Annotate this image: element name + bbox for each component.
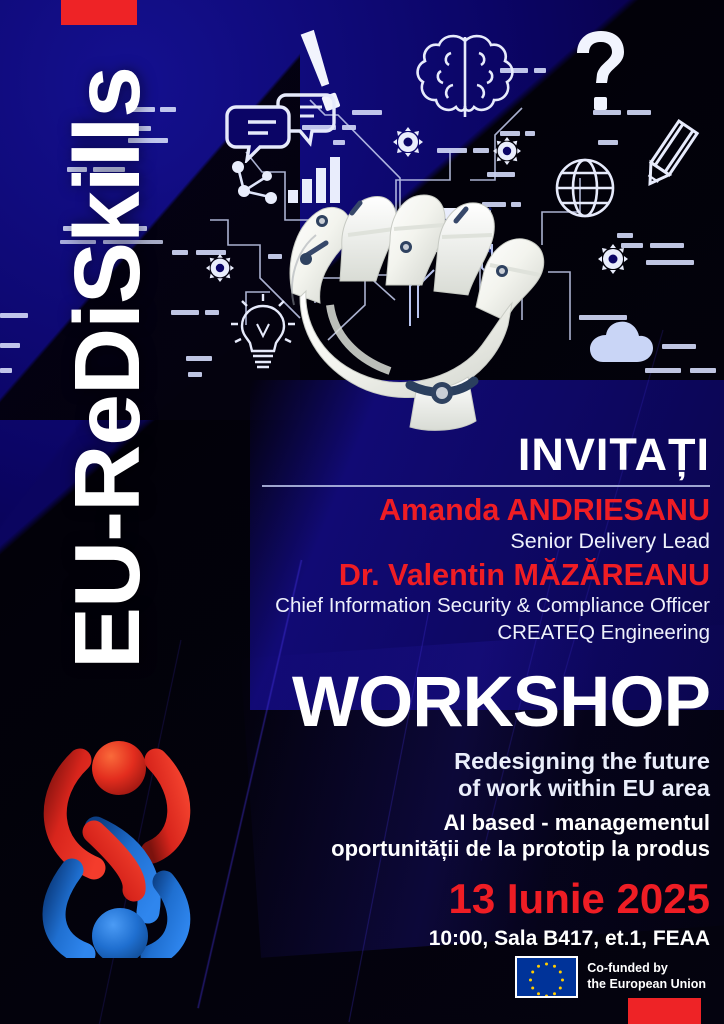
event-subtitle-ro-line1: AI based - managementul: [170, 810, 710, 836]
speaker-2-org: CREATEQ Engineering: [170, 621, 710, 646]
eu-cofunded-line1: Co-funded by: [587, 961, 706, 977]
speaker-2-role: Chief Information Security & Compliance …: [170, 594, 710, 619]
event-subtitle-ro: AI based - managementul oportunității de…: [170, 810, 710, 862]
invited-heading: INVITAȚI: [170, 432, 710, 477]
speaker-2-name: Dr. Valentin MĂZĂREANU: [170, 558, 710, 592]
poster-text-column: INVITAȚI Amanda ANDRIESANU Senior Delive…: [170, 432, 710, 951]
decor-dash: [0, 313, 28, 318]
eu-cofunded-badge: Co-funded by the European Union: [515, 956, 706, 998]
pencil-icon: [632, 118, 706, 200]
invited-heading-rule: [262, 485, 710, 487]
gear-icon: [493, 137, 521, 165]
gear-icon: [393, 127, 423, 157]
speech-bubbles-icon: [224, 85, 342, 163]
eu-flag-icon: [515, 956, 578, 998]
event-place: 10:00, Sala B417, et.1, FEAA: [170, 927, 710, 951]
decor-dash: [0, 343, 20, 348]
event-subtitle-ro-line2: oportunității de la prototip la produs: [170, 836, 710, 862]
event-subtitle-en: Redesigning the future of work within EU…: [170, 748, 710, 802]
decor-dash: [0, 368, 12, 373]
cloud-icon: [583, 318, 655, 366]
event-date: 13 Iunie 2025: [170, 878, 710, 920]
red-accent-bar-bottom: [628, 998, 701, 1024]
question-mark-icon: [575, 29, 627, 115]
speaker-1-role: Senior Delivery Lead: [170, 529, 710, 555]
eu-cofunded-text: Co-funded by the European Union: [587, 961, 706, 992]
event-subtitle-en-line2: of work within EU area: [170, 775, 710, 802]
poster-canvas: EU-ReDiSkills: [0, 0, 724, 1024]
gear-icon: [598, 244, 628, 274]
speaker-1-name: Amanda ANDRIESANU: [170, 493, 710, 527]
gear-icon: [206, 254, 234, 282]
event-subtitle-en-line1: Redesigning the future: [170, 748, 710, 775]
robotic-hand-icon: [270, 185, 580, 435]
event-type-title: WORKSHOP: [170, 668, 710, 738]
brain-icon: [411, 29, 519, 125]
brand-title-vertical: EU-ReDiSkills: [52, 18, 162, 718]
eu-cofunded-line2: the European Union: [587, 977, 706, 993]
